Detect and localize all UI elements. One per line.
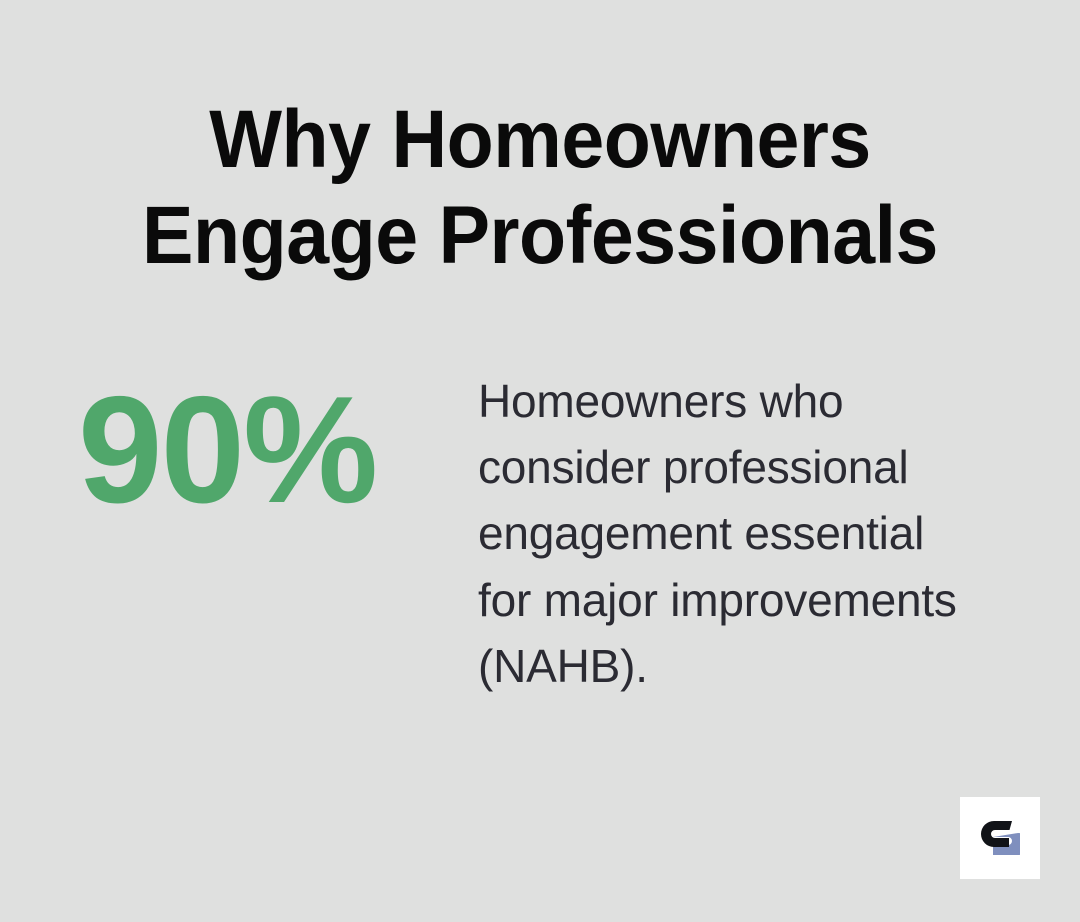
page-title: Why Homeowners Engage Professionals bbox=[89, 92, 991, 284]
logo-badge bbox=[960, 797, 1040, 879]
stat-value: 90% bbox=[78, 368, 478, 526]
title-block: Why Homeowners Engage Professionals bbox=[60, 92, 1020, 284]
infographic-card: Why Homeowners Engage Professionals 90% … bbox=[0, 0, 1080, 922]
brand-logo-icon bbox=[980, 821, 1020, 855]
stat-row: 90% Homeowners who consider professional… bbox=[78, 368, 998, 699]
stat-description: Homeowners who consider professional eng… bbox=[478, 368, 978, 699]
